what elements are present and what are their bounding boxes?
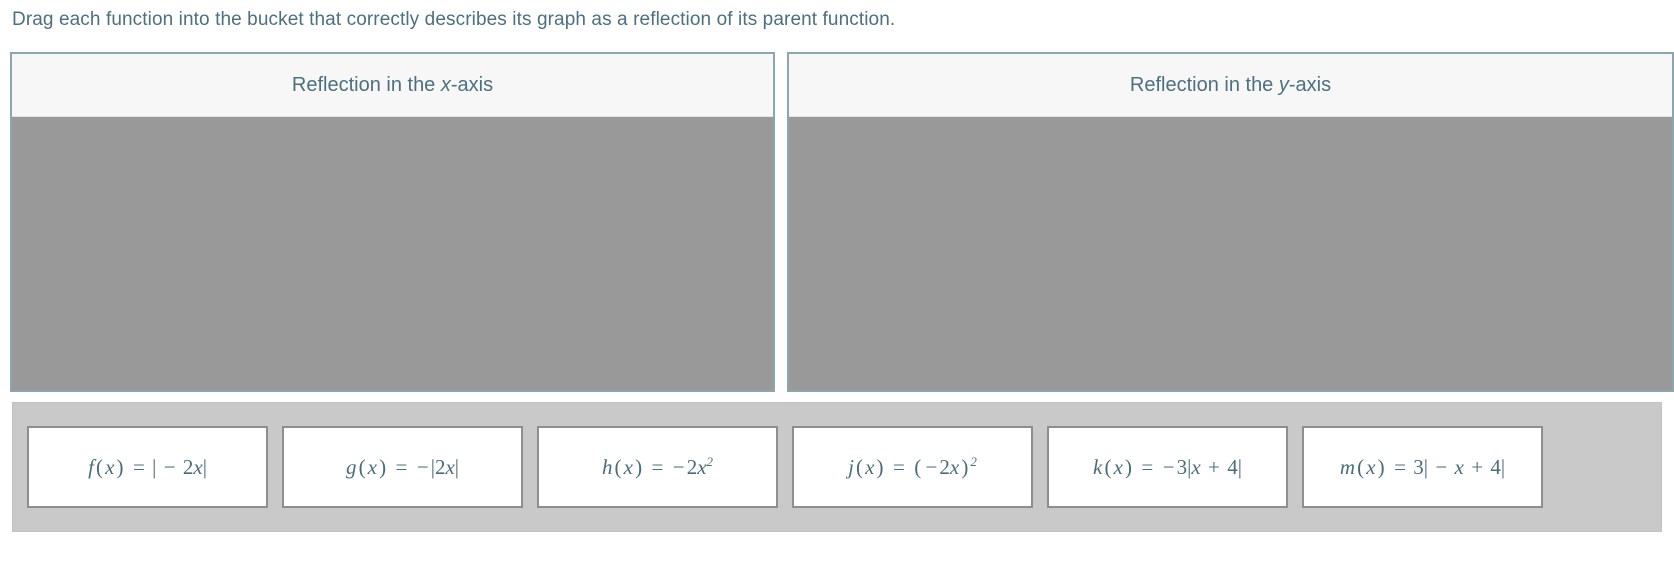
function-tile-h-expression: h(x) = −2x2 — [602, 454, 713, 480]
bucket-x-axis-label-prefix: Reflection in the — [292, 74, 441, 96]
function-tile-k[interactable]: k(x) = −3|x + 4| — [1047, 426, 1288, 508]
bucket-y-axis-header: Reflection in the y-axis — [789, 54, 1672, 117]
function-tile-j-expression: j(x) = (−2x)2 — [848, 454, 977, 480]
buckets-container: Reflection in the x-axis Reflection in t… — [10, 52, 1674, 392]
bucket-x-axis-label-variable: x — [441, 74, 451, 96]
bucket-x-axis-label: Reflection in the x-axis — [292, 74, 493, 97]
bucket-y-axis-label-prefix: Reflection in the — [1130, 74, 1279, 96]
function-tile-g[interactable]: g(x) = −|2x| — [282, 426, 523, 508]
bucket-x-axis-dropzone[interactable] — [12, 117, 773, 390]
function-tile-f[interactable]: f(x) = | − 2x| — [27, 426, 268, 508]
function-tile-m-expression: m(x) = 3| − x + 4| — [1340, 455, 1505, 480]
drag-and-drop-activity: Drag each function into the bucket that … — [0, 0, 1674, 586]
function-tile-k-expression: k(x) = −3|x + 4| — [1093, 455, 1242, 480]
bucket-y-axis-dropzone[interactable] — [789, 117, 1672, 390]
bucket-y-axis[interactable]: Reflection in the y-axis — [787, 52, 1674, 392]
bucket-x-axis-label-suffix: -axis — [451, 74, 493, 96]
function-tile-tray: f(x) = | − 2x| g(x) = −|2x| h(x) = −2x2 … — [12, 402, 1662, 532]
bucket-x-axis-header: Reflection in the x-axis — [12, 54, 773, 117]
function-tile-m[interactable]: m(x) = 3| − x + 4| — [1302, 426, 1543, 508]
function-tile-h[interactable]: h(x) = −2x2 — [537, 426, 778, 508]
function-tile-j[interactable]: j(x) = (−2x)2 — [792, 426, 1033, 508]
bucket-y-axis-label: Reflection in the y-axis — [1130, 74, 1331, 97]
function-tile-g-expression: g(x) = −|2x| — [346, 455, 459, 480]
bucket-x-axis[interactable]: Reflection in the x-axis — [10, 52, 775, 392]
bucket-y-axis-label-variable: y — [1279, 74, 1289, 96]
function-tile-f-expression: f(x) = | − 2x| — [88, 455, 207, 480]
instruction-text: Drag each function into the bucket that … — [12, 9, 895, 31]
bucket-y-axis-label-suffix: -axis — [1289, 74, 1331, 96]
